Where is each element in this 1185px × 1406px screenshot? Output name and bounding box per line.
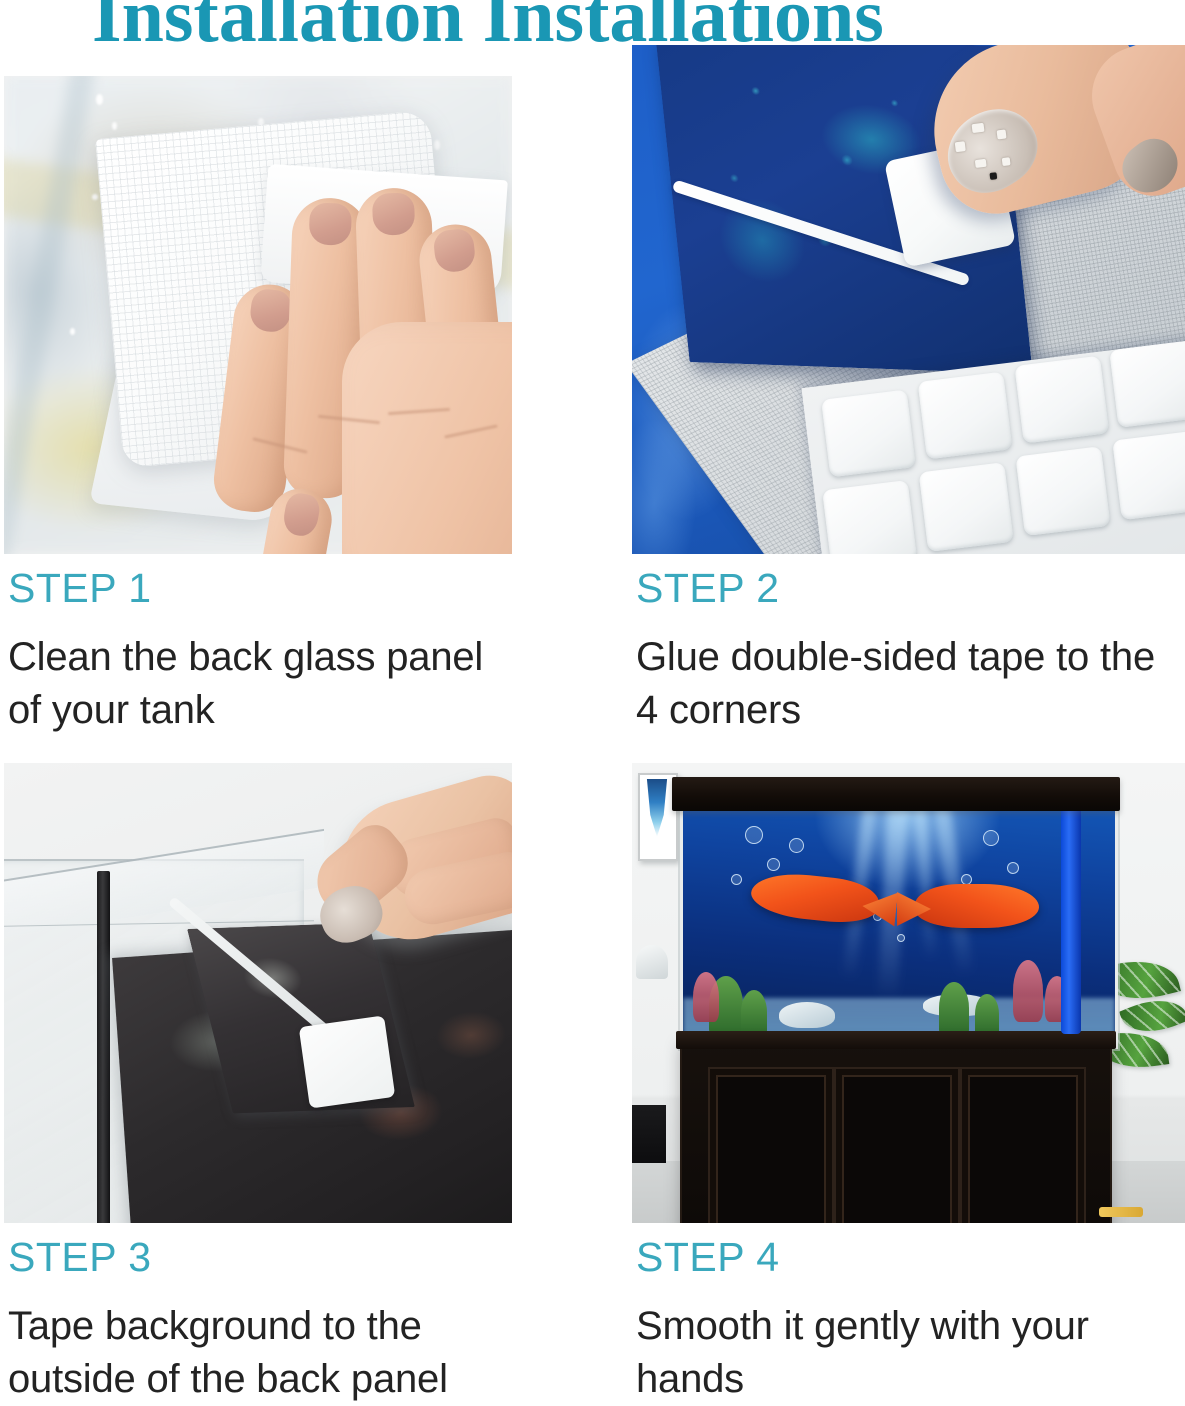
step-4-photo <box>632 763 1185 1223</box>
step-2-caption: STEP 2 Glue double-sided tape to the 4 c… <box>632 554 1185 737</box>
small-shelf-object <box>636 945 668 979</box>
step-4-label: STEP 4 <box>636 1237 1185 1278</box>
cabinet-top-trim <box>676 1031 1116 1049</box>
wall-object-left <box>632 1105 666 1163</box>
hand-cleaning <box>192 172 512 554</box>
step-4-caption: STEP 4 Smooth it gently with your hands <box>632 1223 1185 1406</box>
step-3-description: Tape background to the outside of the ba… <box>8 1300 512 1406</box>
step-card-1: STEP 1 Clean the back glass panel of you… <box>4 76 512 737</box>
step-3-caption: STEP 3 Tape background to the outside of… <box>4 1223 512 1406</box>
page-title: Installation Installations <box>92 0 884 54</box>
decor-rock <box>779 1002 835 1028</box>
aquarium-tank <box>680 797 1118 1049</box>
step-2-description: Glue double-sided tape to the 4 corners <box>636 631 1176 737</box>
cabinet-door <box>708 1067 834 1223</box>
step-2-photo <box>632 45 1185 554</box>
steps-grid: STEP 1 Clean the back glass panel of you… <box>0 0 1185 1398</box>
step-1-caption: STEP 1 Clean the back glass panel of you… <box>4 554 512 737</box>
step-card-2: STEP 2 Glue double-sided tape to the 4 c… <box>632 45 1185 737</box>
step-3-photo <box>4 763 512 1223</box>
tank-corner-seal <box>97 871 110 1223</box>
decor-plant <box>975 994 999 1034</box>
aquarium-hood <box>672 777 1120 811</box>
page-title-band: Installation Installations <box>0 0 1185 62</box>
blue-filter-tube <box>1061 806 1081 1034</box>
step-card-3: STEP 3 Tape background to the outside of… <box>4 763 512 1406</box>
hand-holding-poster <box>292 777 512 967</box>
decor-coral <box>1013 960 1043 1022</box>
arowana-fish-right <box>915 884 1039 928</box>
decor-plant <box>939 982 969 1034</box>
step-3-label: STEP 3 <box>8 1237 512 1278</box>
cabinet-door <box>960 1067 1086 1223</box>
step-1-label: STEP 1 <box>8 568 512 609</box>
palm <box>342 322 512 554</box>
tape-square-on-poster <box>299 1015 396 1108</box>
decor-coral <box>693 972 719 1022</box>
step-1-description: Clean the back glass panel of your tank <box>8 631 512 737</box>
step-4-description: Smooth it gently with your hands <box>636 1300 1176 1406</box>
aquarium-cabinet-stand <box>680 1039 1112 1223</box>
step-card-4: STEP 4 Smooth it gently with your hands <box>632 763 1185 1406</box>
floor-mat <box>1099 1207 1143 1217</box>
step-2-label: STEP 2 <box>636 568 1185 609</box>
step-1-photo <box>4 76 512 554</box>
cabinet-door <box>834 1067 960 1223</box>
decor-plant <box>741 990 767 1034</box>
glitter-nail <box>932 93 1051 208</box>
